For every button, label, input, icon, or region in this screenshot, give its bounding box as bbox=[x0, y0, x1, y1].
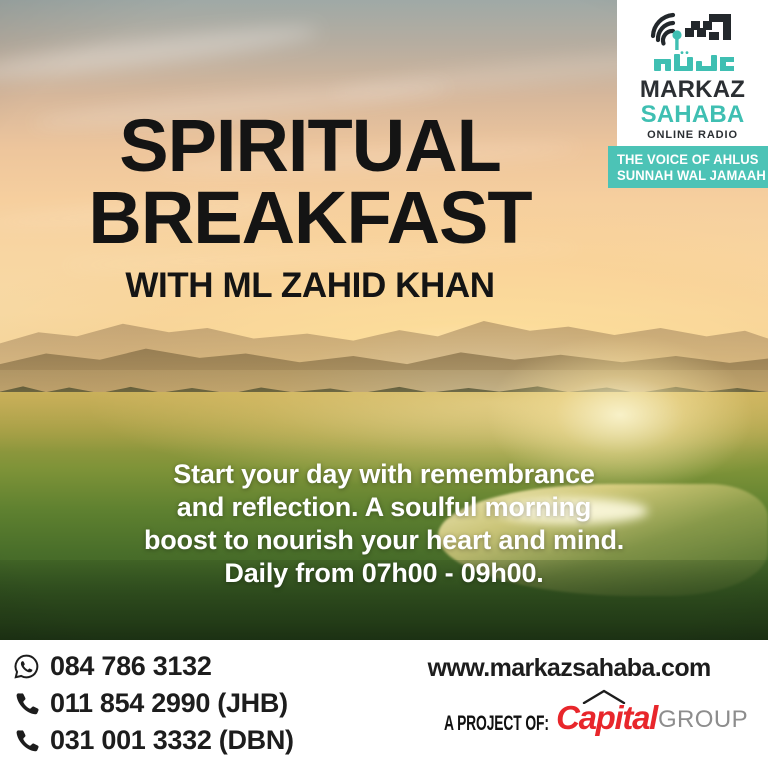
logo-name-markaz: MARKAZ bbox=[640, 78, 745, 102]
description-line-1: Start your day with remembrance bbox=[0, 458, 768, 491]
contact-number: 084 786 3132 bbox=[50, 653, 212, 680]
wifi-radio-waves-icon bbox=[647, 6, 739, 52]
logo-name-sahaba: SAHABA bbox=[641, 103, 745, 127]
description-block: Start your day with remembrance and refl… bbox=[0, 458, 768, 590]
phone-icon bbox=[14, 728, 39, 753]
contact-list: 084 786 3132 011 854 2990 (JHB) 031 001 … bbox=[14, 650, 294, 757]
phone-icon bbox=[14, 691, 39, 716]
contact-number: 011 854 2990 (JHB) bbox=[50, 690, 288, 717]
tagline-line-1: THE VOICE OF AHLUS bbox=[617, 151, 757, 167]
website-url[interactable]: www.markazsahaba.com bbox=[428, 656, 711, 681]
capital-group-logo: Capital GROUP bbox=[556, 701, 748, 734]
arabic-calligraphy-sahaba bbox=[646, 51, 740, 75]
headline-line-1: SPIRITUAL bbox=[0, 112, 620, 180]
markaz-sahaba-logo-card: MARKAZ SAHABA ONLINE RADIO bbox=[617, 0, 768, 146]
tagline-banner: THE VOICE OF AHLUS SUNNAH WAL JAMAAH bbox=[608, 146, 768, 188]
headline-line-2: BREAKFAST bbox=[0, 184, 620, 252]
whatsapp-icon bbox=[14, 654, 39, 679]
field-highlight bbox=[0, 392, 768, 452]
project-of-label: A PROJECT OF: bbox=[444, 713, 549, 734]
footer-right-block: www.markazsahaba.com A PROJECT OF: Capit… bbox=[390, 656, 748, 734]
description-line-3: boost to nourish your heart and mind. bbox=[0, 524, 768, 557]
headline-block: SPIRITUAL BREAKFAST WITH ML ZAHID KHAN bbox=[0, 112, 620, 306]
tagline-line-2: SUNNAH WAL JAMAAH bbox=[617, 167, 757, 183]
description-line-4: Daily from 07h00 - 09h00. bbox=[0, 557, 768, 590]
poster-canvas: MARKAZ SAHABA ONLINE RADIO THE VOICE OF … bbox=[0, 0, 768, 768]
logo-subtitle-online-radio: ONLINE RADIO bbox=[647, 130, 738, 141]
footer-bar: 084 786 3132 011 854 2990 (JHB) 031 001 … bbox=[0, 640, 768, 768]
group-wordmark: GROUP bbox=[658, 708, 748, 734]
headline-subtitle: WITH ML ZAHID KHAN bbox=[0, 266, 620, 306]
contact-row[interactable]: 011 854 2990 (JHB) bbox=[14, 687, 294, 720]
contact-number: 031 001 3332 (DBN) bbox=[50, 727, 294, 754]
capital-wordmark: Capital bbox=[556, 701, 657, 734]
house-roof-icon bbox=[582, 689, 626, 704]
contact-row[interactable]: 031 001 3332 (DBN) bbox=[14, 724, 294, 757]
contact-row[interactable]: 084 786 3132 bbox=[14, 650, 294, 683]
description-line-2: and reflection. A soulful morning bbox=[0, 491, 768, 524]
project-credit-line: A PROJECT OF: Capital GROUP bbox=[390, 701, 748, 734]
